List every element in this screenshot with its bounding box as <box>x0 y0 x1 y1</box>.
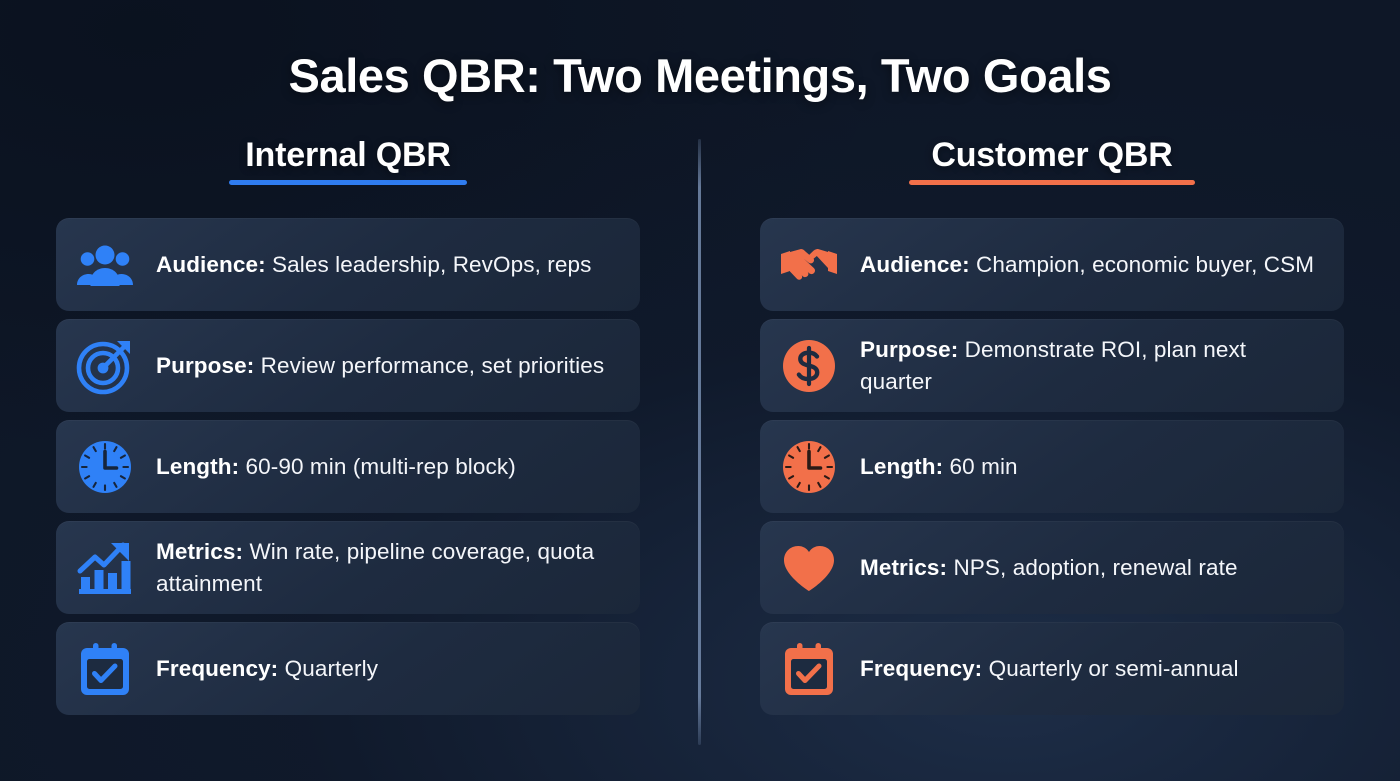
calendar-check-icon <box>778 638 840 700</box>
column-accent-rule-internal <box>229 180 467 185</box>
clock-icon <box>778 436 840 498</box>
column-internal-qbr: Internal QBR Audience: <box>28 134 668 715</box>
card-label: Metrics: <box>156 539 249 564</box>
card-text: Length: 60 min <box>860 451 1018 483</box>
card-value: Champion, economic buyer, CSM <box>976 252 1314 277</box>
slide-canvas: Sales QBR: Two Meetings, Two Goals Inter… <box>0 0 1400 781</box>
people-group-icon <box>74 234 136 296</box>
card-label: Audience: <box>860 252 976 277</box>
card-label: Audience: <box>156 252 272 277</box>
card-value: 60-90 min (multi-rep block) <box>246 454 516 479</box>
page-title: Sales QBR: Two Meetings, Two Goals <box>0 48 1400 103</box>
card-internal-frequency[interactable]: Frequency: Quarterly <box>56 622 640 715</box>
card-text: Length: 60-90 min (multi-rep block) <box>156 451 516 483</box>
card-value: NPS, adoption, renewal rate <box>953 555 1237 580</box>
card-text: Audience: Champion, economic buyer, CSM <box>860 249 1314 281</box>
card-value: 60 min <box>950 454 1018 479</box>
card-text: Metrics: Win rate, pipeline coverage, qu… <box>156 536 620 600</box>
clock-icon <box>74 436 136 498</box>
card-list-internal: Audience: Sales leadership, RevOps, reps <box>56 218 640 715</box>
card-text: Purpose: Demonstrate ROI, plan next quar… <box>860 334 1324 398</box>
card-customer-frequency[interactable]: Frequency: Quarterly or semi-annual <box>760 622 1344 715</box>
column-title-internal: Internal QBR <box>56 134 640 176</box>
dollar-circle-icon <box>778 335 840 397</box>
column-title-customer: Customer QBR <box>760 134 1344 176</box>
card-label: Frequency: <box>156 656 285 681</box>
card-internal-audience[interactable]: Audience: Sales leadership, RevOps, reps <box>56 218 640 311</box>
column-header-customer: Customer QBR <box>760 134 1344 185</box>
column-header-internal: Internal QBR <box>56 134 640 185</box>
card-label: Purpose: <box>156 353 261 378</box>
card-internal-metrics[interactable]: Metrics: Win rate, pipeline coverage, qu… <box>56 521 640 614</box>
card-label: Length: <box>156 454 246 479</box>
card-customer-audience[interactable]: Audience: Champion, economic buyer, CSM <box>760 218 1344 311</box>
card-label: Purpose: <box>860 337 965 362</box>
card-text: Frequency: Quarterly or semi-annual <box>860 653 1239 685</box>
bar-chart-up-icon <box>74 537 136 599</box>
card-text: Metrics: NPS, adoption, renewal rate <box>860 552 1238 584</box>
column-divider <box>698 139 701 745</box>
card-text: Purpose: Review performance, set priorit… <box>156 350 604 382</box>
calendar-check-icon <box>74 638 136 700</box>
card-list-customer: Audience: Champion, economic buyer, CSM … <box>760 218 1344 715</box>
column-accent-rule-customer <box>909 180 1195 185</box>
card-customer-metrics[interactable]: Metrics: NPS, adoption, renewal rate <box>760 521 1344 614</box>
heart-icon <box>778 537 840 599</box>
card-internal-length[interactable]: Length: 60-90 min (multi-rep block) <box>56 420 640 513</box>
handshake-icon <box>778 234 840 296</box>
card-internal-purpose[interactable]: Purpose: Review performance, set priorit… <box>56 319 640 412</box>
card-text: Audience: Sales leadership, RevOps, reps <box>156 249 591 281</box>
card-label: Frequency: <box>860 656 989 681</box>
target-dart-icon <box>74 335 136 397</box>
card-customer-length[interactable]: Length: 60 min <box>760 420 1344 513</box>
card-label: Metrics: <box>860 555 953 580</box>
card-value: Quarterly <box>285 656 378 681</box>
column-customer-qbr: Customer QBR Audience: Champion, economi… <box>732 134 1372 715</box>
card-customer-purpose[interactable]: Purpose: Demonstrate ROI, plan next quar… <box>760 319 1344 412</box>
card-value: Sales leadership, RevOps, reps <box>272 252 591 277</box>
card-text: Frequency: Quarterly <box>156 653 378 685</box>
card-value: Quarterly or semi-annual <box>989 656 1239 681</box>
card-label: Length: <box>860 454 950 479</box>
card-value: Review performance, set priorities <box>261 353 605 378</box>
